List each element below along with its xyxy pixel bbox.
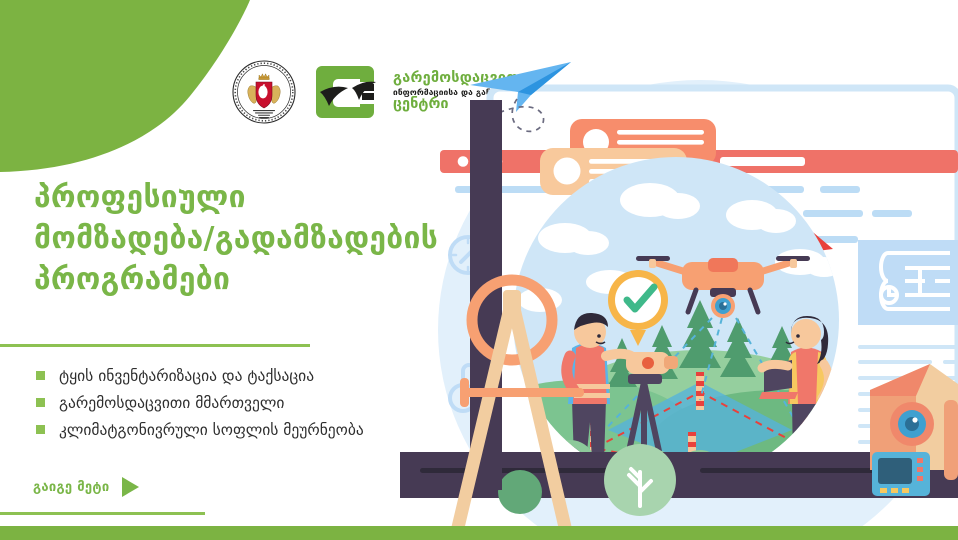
divider-bottom bbox=[0, 512, 205, 515]
title-line-2: მომზადება/გადამზადების bbox=[34, 219, 454, 260]
surveying-illustration bbox=[400, 0, 958, 540]
bullet-square-icon bbox=[36, 398, 45, 407]
list-item-label: ტყის ინვენტარიზაცია და ტაქსაცია bbox=[59, 367, 314, 385]
blueprint-icon bbox=[858, 240, 958, 325]
book-c-logo-icon bbox=[312, 62, 384, 122]
list-item-label: გარემოსდაცვითი მმართველი bbox=[59, 394, 284, 412]
bullet-square-icon bbox=[36, 425, 45, 434]
bottom-green-strip bbox=[0, 526, 958, 540]
play-triangle-icon bbox=[122, 477, 139, 497]
learn-more-button[interactable]: გაიგე მეტი bbox=[33, 477, 139, 497]
learn-more-label: გაიგე მეტი bbox=[33, 480, 109, 495]
title-line-1: პროფესიული bbox=[34, 178, 454, 219]
title-line-3: პროგრამები bbox=[34, 260, 454, 301]
divider-top bbox=[0, 344, 310, 347]
list-item-label: კლიმატგონივრული სოფლის მეურნეობა bbox=[59, 421, 364, 439]
page-title: პროფესიული მომზადება/გადამზადების პროგრა… bbox=[34, 178, 454, 300]
bullet-square-icon bbox=[36, 371, 45, 380]
georgia-state-emblem-seal-icon bbox=[232, 60, 296, 124]
slide-canvas: გარემოსდაცვითი ინფორმაციისა და განათლები… bbox=[0, 0, 958, 540]
